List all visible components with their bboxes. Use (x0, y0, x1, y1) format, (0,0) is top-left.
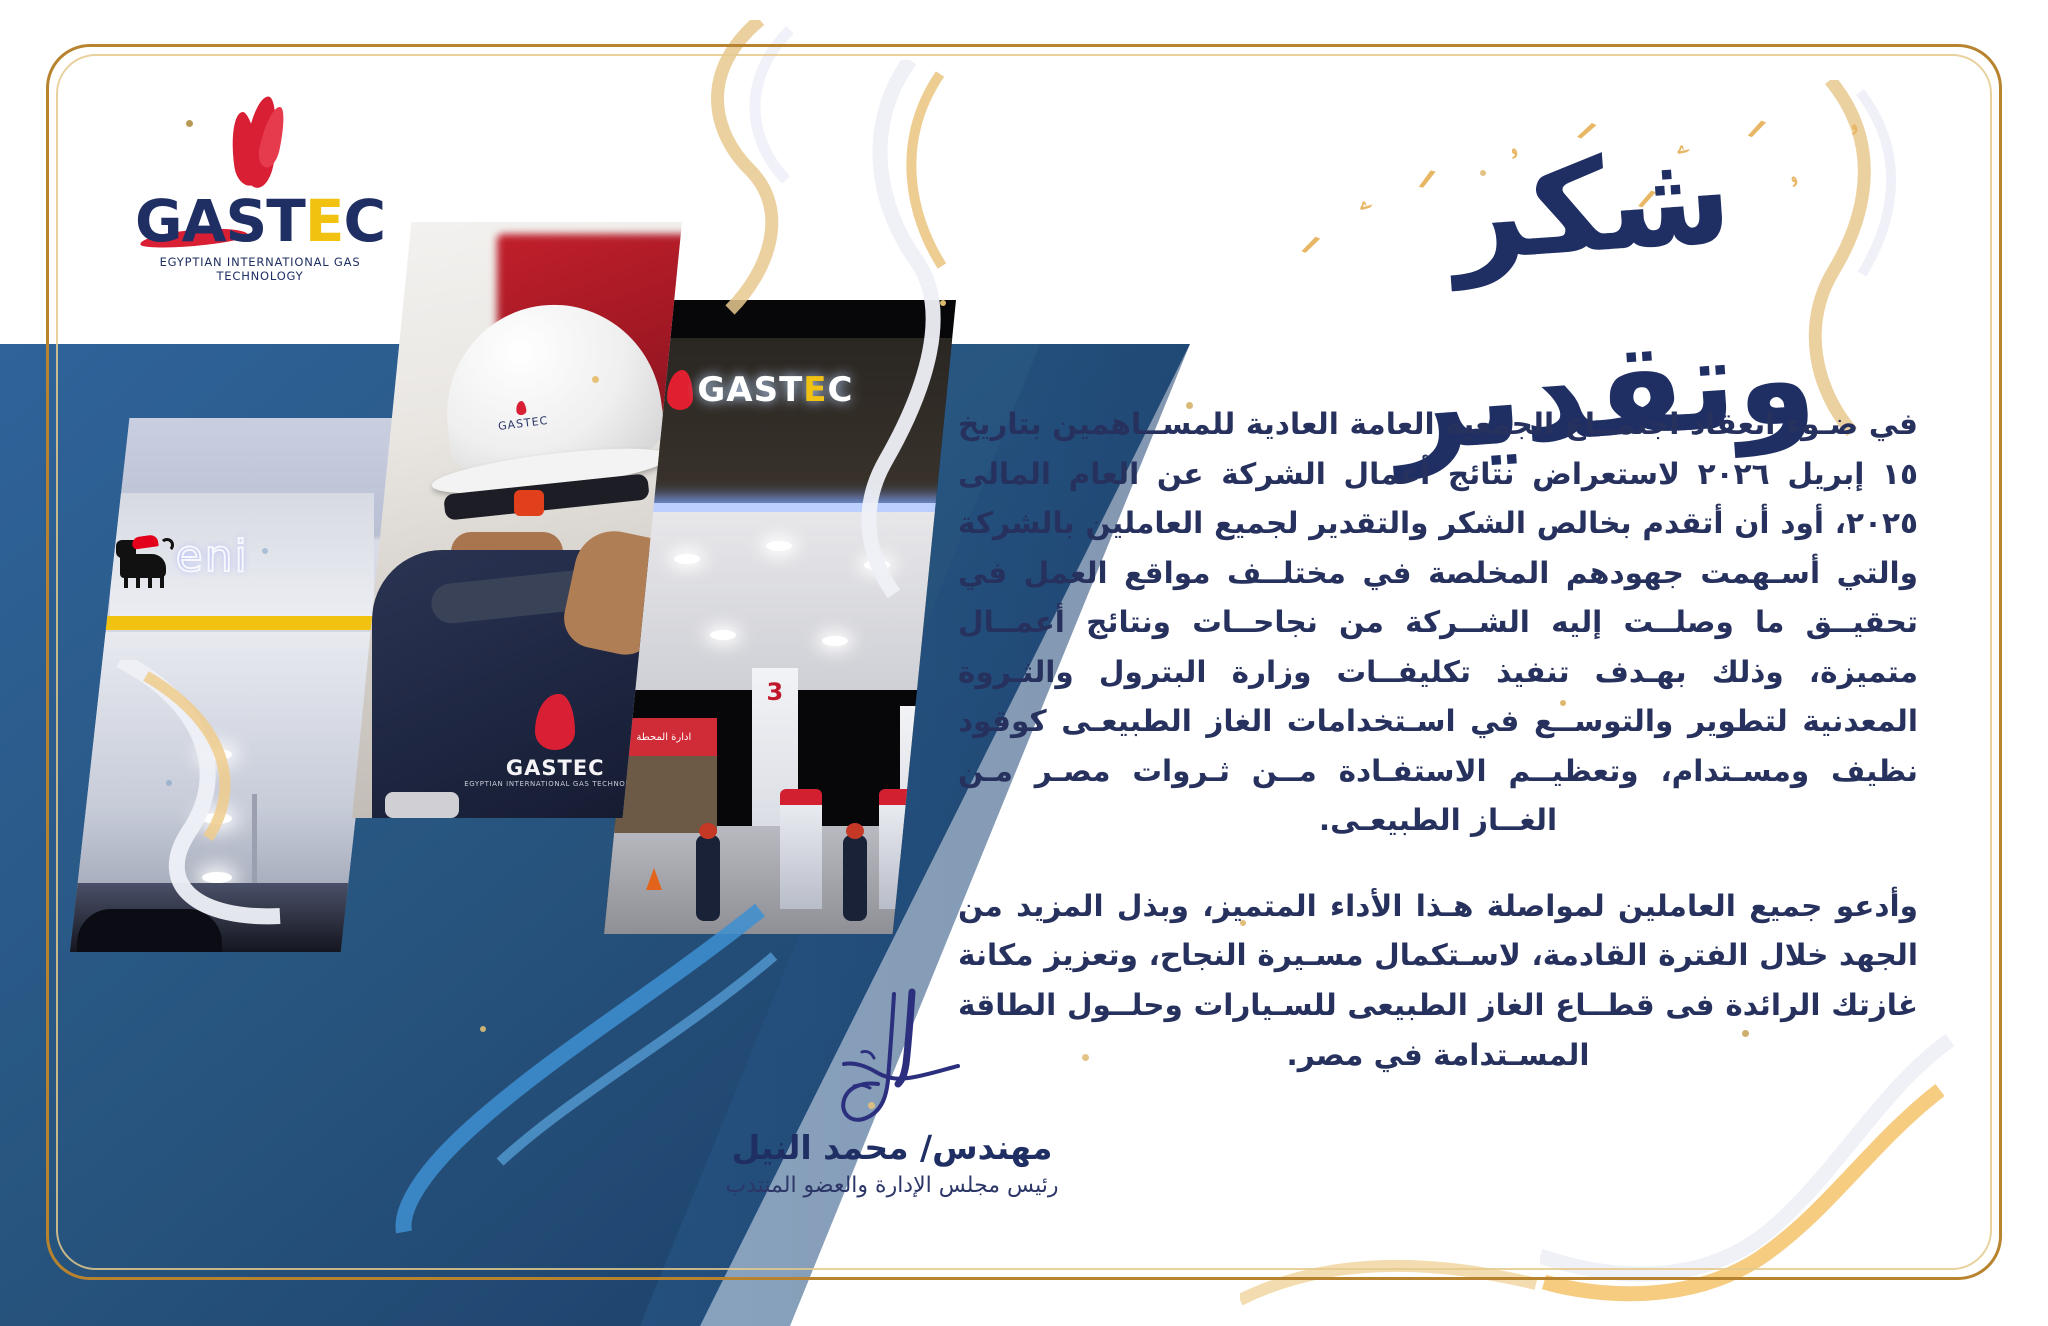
eni-dog-icon (116, 534, 170, 580)
certificate-poster: eni GASTEC GASTEC EGYPTIAN INTERNATIONAL… (0, 0, 2048, 1326)
logo-wordmark: GASTEC (120, 192, 400, 250)
eni-wordmark: eni (176, 531, 249, 582)
helmet-gastec-label: GASTEC (496, 398, 550, 433)
pump-number: 3 (752, 678, 798, 706)
eni-logo-sign: eni (110, 493, 374, 621)
ribbon-bottom-center (1240, 1240, 1540, 1326)
confetti-dot (166, 780, 172, 786)
signer-role: رئيس مجلس الإدارة والعضو المنتدب (612, 1173, 1172, 1198)
signature-block: مهندس/ محمد النيل رئيس مجلس الإدارة والع… (612, 988, 1172, 1198)
calligraphy-heading: ۥ ؍ ۦ ؍ ۥ ؍ ۦ ؍ ۥ ؍ شكر وتقدير (1278, 104, 1918, 334)
confetti-dot (592, 376, 599, 383)
signer-name: مهندس/ محمد النيل (612, 1128, 1172, 1167)
station-gastec-sign: GASTEC (667, 370, 853, 410)
letter-paragraph-1: في ضـوء انعقاد اجتمــاع الجمعية العامة ا… (958, 400, 1918, 846)
confetti-dot (940, 300, 946, 306)
uniform-gastec-logo: GASTEC EGYPTIAN INTERNATIONAL GAS TECHNO… (464, 694, 646, 788)
handwritten-signature (612, 988, 1172, 1128)
gastec-logo: GASTEC EGYPTIAN INTERNATIONAL GAS TECHNO… (120, 96, 400, 283)
confetti-dot (262, 548, 268, 554)
flame-icon (232, 96, 288, 188)
confetti-dot (480, 1026, 486, 1032)
letter-body: في ضـوء انعقاد اجتمــاع الجمعية العامة ا… (958, 400, 1918, 1080)
logo-tagline: EGYPTIAN INTERNATIONAL GAS TECHNOLOGY (120, 255, 400, 283)
flame-icon (667, 370, 693, 410)
flame-icon (535, 694, 575, 750)
